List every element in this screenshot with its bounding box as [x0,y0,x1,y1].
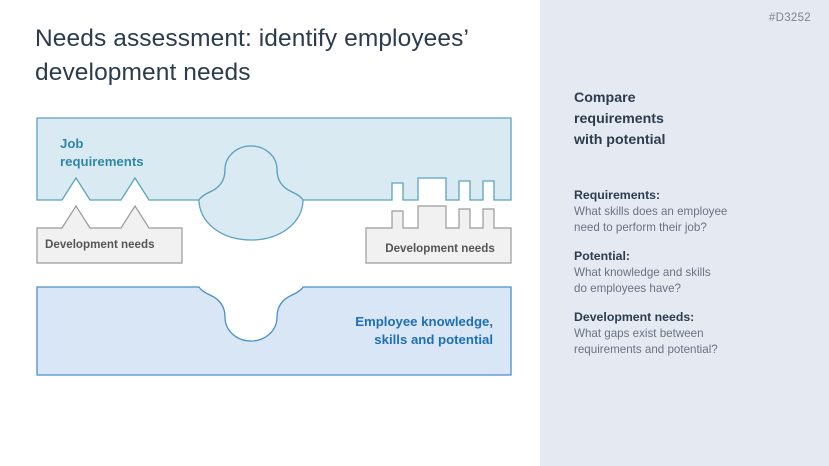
definition-item-requirements: Requirements: What skills does an employ… [574,188,789,236]
definition-item-potential: Potential: What knowledge and skills do … [574,249,789,297]
definition-term: Requirements: [574,188,789,202]
development-needs-box-left [37,206,182,263]
definition-term: Development needs: [574,310,789,324]
puzzle-diagram: Job requirements Employee knowledge, ski… [0,0,540,466]
definition-description: What gaps exist between requirements and… [574,326,789,358]
sidebar-definition-list: Requirements: What skills does an employ… [574,188,789,371]
job-requirements-label: Job requirements [60,135,144,171]
slide-id-badge: #D3252 [769,12,811,24]
development-needs-label-right: Development needs [375,242,505,255]
development-needs-label-left: Development needs [45,238,175,251]
sidebar-heading: Compare requirements with potential [574,88,774,151]
employee-knowledge-label: Employee knowledge, skills and potential [300,313,493,349]
definition-term: Potential: [574,249,789,263]
definition-item-development-needs: Development needs: What gaps exist betwe… [574,310,789,358]
definition-description: What skills does an employee need to per… [574,204,789,236]
slide-canvas: Needs assessment: identify employees’ de… [0,0,829,466]
sidebar: #D3252 Compare requirements with potenti… [540,0,829,466]
puzzle-diagram-svg [0,0,540,466]
definition-description: What knowledge and skills do employees h… [574,265,789,297]
